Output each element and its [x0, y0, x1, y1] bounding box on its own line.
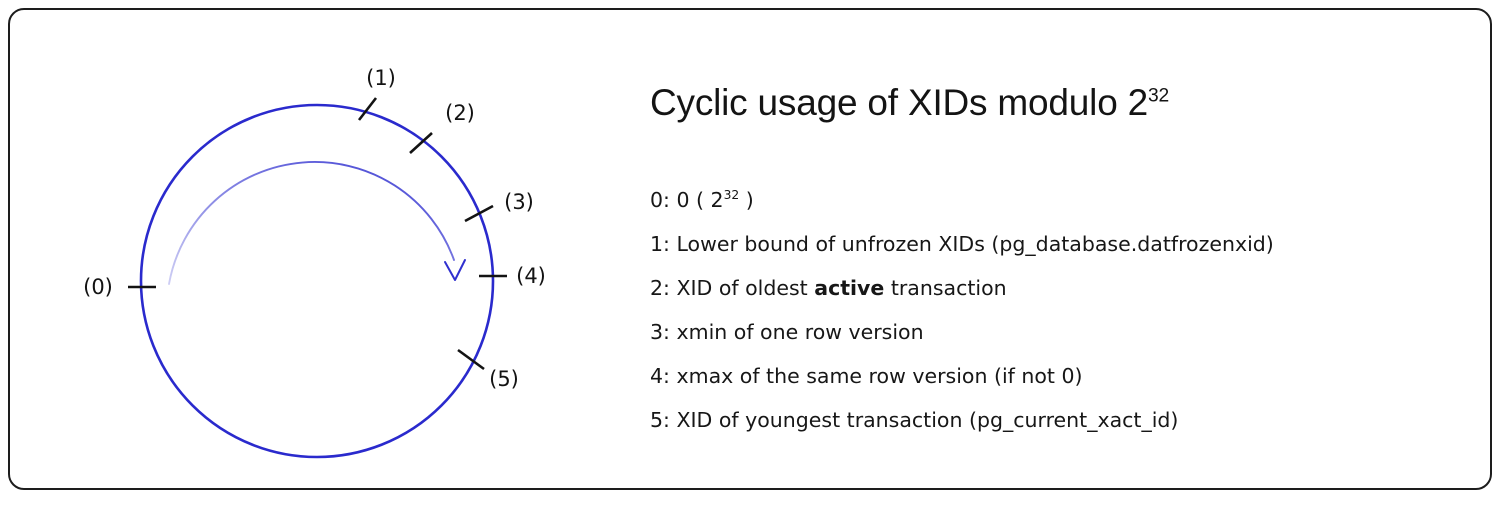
- tick-label-0: (0): [83, 275, 113, 299]
- legend-item-2-tail: transaction: [884, 276, 1006, 300]
- tick-label-4: (4): [516, 264, 546, 288]
- legend-item-0: 0: 0 ( 232 ): [650, 178, 1490, 222]
- legend-item-1-text: 1: Lower bound of unfrozen XIDs (pg_data…: [650, 232, 1274, 256]
- tick-mark-1: [359, 98, 376, 120]
- direction-arrow-arc: [169, 162, 454, 284]
- circle-svg: [10, 10, 630, 512]
- page-title-text: Cyclic usage of XIDs modulo 2: [650, 82, 1148, 123]
- direction-arrowhead-icon: [445, 260, 465, 280]
- legend-item-5: 5: XID of youngest transaction (pg_curre…: [650, 398, 1490, 442]
- page-title: Cyclic usage of XIDs modulo 232: [650, 82, 1169, 124]
- tick-mark-2: [410, 133, 432, 153]
- legend-item-0-exponent: 32: [724, 188, 740, 202]
- legend-item-5-text: 5: XID of youngest transaction (pg_curre…: [650, 408, 1178, 432]
- legend-item-3: 3: xmin of one row version: [650, 310, 1490, 354]
- page-title-exponent: 32: [1148, 86, 1169, 107]
- legend-item-2-emphasis: active: [814, 276, 884, 300]
- legend-item-0-suffix: ): [739, 188, 754, 212]
- legend-item-2-prefix: 2: XID of oldest: [650, 276, 814, 300]
- legend-item-0-prefix: 0: 0 ( 2: [650, 188, 724, 212]
- cyclic-xid-diagram: (0) (1) (2) (3) (4) (5): [10, 10, 630, 512]
- tick-label-1: (1): [366, 66, 396, 90]
- legend-item-1: 1: Lower bound of unfrozen XIDs (pg_data…: [650, 222, 1490, 266]
- tick-label-2: (2): [445, 101, 475, 125]
- legend-item-4: 4: xmax of the same row version (if not …: [650, 354, 1490, 398]
- legend-item-4-text: 4: xmax of the same row version (if not …: [650, 364, 1083, 388]
- tick-mark-3: [465, 206, 493, 221]
- legend-panel: Cyclic usage of XIDs modulo 232 0: 0 ( 2…: [650, 10, 1490, 512]
- legend-list: 0: 0 ( 232 ) 1: Lower bound of unfrozen …: [650, 178, 1490, 442]
- tick-label-3: (3): [504, 190, 534, 214]
- diagram-card: (0) (1) (2) (3) (4) (5) Cyclic usage of …: [8, 8, 1492, 490]
- legend-item-2: 2: XID of oldest active transaction: [650, 266, 1490, 310]
- legend-item-3-text: 3: xmin of one row version: [650, 320, 924, 344]
- xid-cycle-circle: [141, 105, 493, 457]
- tick-label-5: (5): [489, 367, 519, 391]
